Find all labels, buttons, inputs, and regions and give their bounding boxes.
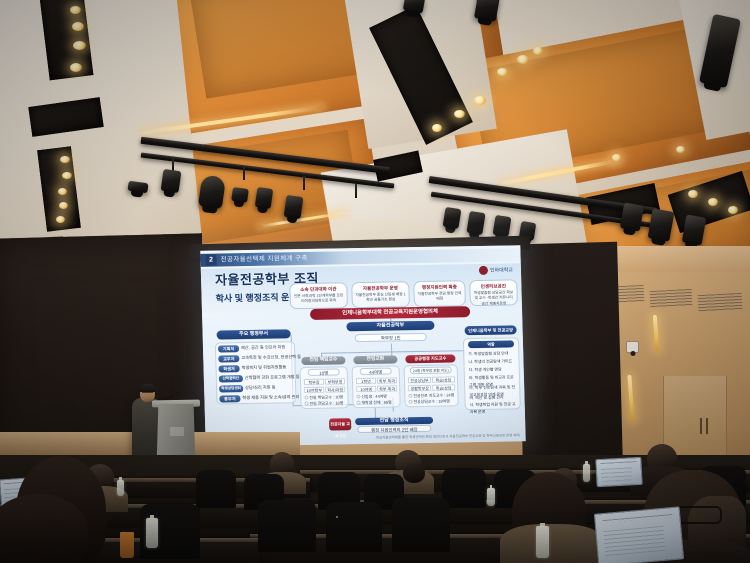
downlight-icon (533, 47, 543, 55)
org-bullet: ◎ 재학생 전체 : 68명 (357, 400, 392, 407)
stage-spotlight-fixture (255, 187, 274, 209)
downlight-icon (73, 41, 86, 50)
downlight-icon (72, 22, 84, 31)
right-panel-header: 인제니움학부 및 전공교양 (464, 325, 516, 335)
org-cell: 1학년 (356, 378, 376, 384)
stage-spotlight-fixture (443, 207, 462, 229)
info-box-body: 인문·사회과학 1단계학부를 프런티어창의대학으로 학칙 (293, 293, 345, 305)
laptop-screen[interactable] (595, 457, 642, 487)
paper-cup[interactable] (120, 532, 134, 558)
org-cell: 10여명 (356, 386, 376, 392)
dept-text: 학생복지 및 취업지원활동 (241, 364, 286, 371)
right-bullet: 나. 학생의 전공탐색 가이드 (468, 358, 512, 366)
moving-head-light-fixture (198, 174, 226, 209)
water-bottle[interactable] (146, 518, 158, 548)
org-branch-title: 전임교원 (353, 355, 397, 364)
downlight-icon (708, 198, 718, 206)
right-bullet: 가. 학생맞춤형 상담 안내 (468, 350, 508, 358)
projection-screen: 2 전공자율선택제 지원체계 구축 자율전공학부 조직 인하대학교 학사 및 행… (200, 245, 525, 447)
org-cell: 10여학부 (304, 387, 324, 393)
presenter-hair (139, 384, 156, 392)
logo-mark-icon (479, 266, 488, 275)
downlight-icon (70, 63, 82, 72)
truss-hanger (243, 166, 245, 180)
stage-spotlight-fixture (161, 169, 182, 193)
laptop-document-body (600, 467, 632, 482)
bottom-header: 전담 행정조직 (355, 417, 433, 425)
laptop-document-lines (600, 461, 637, 464)
dept-label: 학생상담센터 (219, 385, 243, 392)
laptop-document-body (603, 526, 666, 558)
downlight-icon (70, 6, 81, 14)
air-vent-right-2 (650, 289, 693, 308)
info-box-body: 학생맞춤형 상담공간 확보 및 교수 ·학생간 커뮤니티 공간 재배치운영 (473, 290, 515, 307)
dept-text: 학생 채용 지원 및 소속/급여 관리 (242, 394, 299, 401)
downlight-icon (517, 55, 529, 64)
info-box: 행정지원인력 확충 자율전공학부 전담 행정 인력 배정 (413, 280, 466, 307)
org-cell: 학습/상담 (432, 376, 455, 382)
door-handle[interactable] (700, 418, 702, 434)
stage-spotlight-fixture (231, 187, 249, 203)
attendee-head (403, 463, 425, 483)
left-panel-header: 주요 행정부서 (217, 329, 291, 339)
stage-spotlight-fixture (284, 195, 304, 219)
org-cell: 부학부장 (325, 378, 345, 384)
dept-text: 예산, 공간 등 인프라 지원 (241, 344, 286, 351)
podium-crest-logo (170, 427, 184, 436)
bottom-badge: 전공자율 교육과정 (329, 418, 351, 430)
downlight-icon (497, 68, 508, 76)
laptop-screen[interactable] (594, 506, 684, 563)
org-cell: 전공상담부 (408, 377, 431, 383)
bottom-text: 행정 지원인력의 2인 배정 (357, 425, 431, 433)
downlight-icon (454, 110, 465, 118)
dept-label: 총무처 (219, 395, 240, 402)
presentation-slide: 2 전공자율선택제 지원체계 구축 자율전공학부 조직 인하대학교 학사 및 행… (200, 245, 525, 447)
downlight-icon (59, 202, 68, 209)
downlight-icon (728, 206, 738, 214)
downlight-icon (58, 188, 67, 195)
laptop-screen[interactable] (336, 516, 338, 518)
org-branch-count: 10명 (308, 368, 340, 376)
water-bottle[interactable] (117, 480, 124, 496)
org-branch-title: 전임 책임교수 (301, 356, 345, 365)
org-bullet: ◎ 전공상담교수 : 18여명 (409, 398, 450, 406)
stage-spotlight-fixture (127, 181, 148, 194)
right-bullet: 다. 학생 개인별 면담 (469, 367, 502, 374)
org-cell: 생활학부장 (408, 385, 431, 391)
ceiling (0, 0, 750, 258)
info-box-body: 자율전공학부 전담 행정 인력 배정 (417, 291, 463, 303)
org-cell: 학습/상담 (432, 384, 455, 390)
slide-section-label: 학사 및 행정조직 운영 (215, 290, 297, 304)
truss-hanger (303, 176, 305, 190)
downlight-icon (62, 172, 72, 179)
info-box: 인센티브공간 학생맞춤형 상담공간 확보 및 교수 ·학생간 커뮤니티 공간 재… (469, 279, 518, 306)
laptop-document-lines (602, 514, 673, 523)
dept-label: 산학협력단 (219, 375, 243, 382)
org-cell: 학부·학과 (377, 385, 397, 391)
downlight-icon (60, 156, 70, 163)
water-bottle[interactable] (583, 464, 590, 482)
attendee-shoulders (500, 524, 604, 563)
logo-text: 인하대학교 (490, 266, 513, 273)
audience-chair (392, 498, 450, 552)
presenter-glasses-icon (142, 392, 153, 395)
slide-number-badge: 2 (205, 255, 216, 266)
dept-label: 교무처 (218, 355, 239, 362)
org-branch-count: 44여명 (360, 368, 392, 376)
org-cell: 학사/과정 (325, 386, 345, 392)
audience-chair (258, 500, 316, 552)
door-handle[interactable] (706, 418, 708, 434)
org-root-node: 자율전공학부 (346, 321, 434, 332)
org-cell: 학부·학과 (377, 377, 397, 383)
stage-backdrop-right (517, 242, 623, 467)
dept-text: 상담/심리 지원 등 (245, 385, 276, 392)
truss-hanger (355, 184, 357, 198)
org-branch-count: 24명 (학부장 포함 지도) (410, 366, 452, 374)
water-bottle[interactable] (536, 526, 549, 558)
info-box-body: 자율전공학부 중심 신입생 배정 1학년 공통기초 편성 (355, 292, 407, 304)
dept-label: 기획처 (218, 345, 239, 352)
water-bottle[interactable] (487, 488, 495, 506)
org-branch-title: 공공행정 지도교수 (405, 354, 455, 363)
slide-footer-note: 전공자율선택제를 통한 학생선택권 확대 방안으로서 자율전공학부 전공교육 및… (376, 432, 520, 440)
right-panel-subheader: 역할 (468, 340, 514, 348)
info-box: 자율전공학부 운영 자율전공학부 중심 신입생 배정 1학년 공통기초 편성 (351, 281, 410, 308)
stage-spotlight-fixture (493, 215, 512, 237)
bottom-badge-text: 전공자율 교육과정 (330, 421, 350, 438)
org-cell: 학부장 (304, 379, 324, 385)
dept-text: 교과목정 및 수강신청, 전공선택 등 (241, 354, 301, 361)
right-bullet: 사. 학생취업 지원 및 전공 교과목 운영 (470, 401, 518, 415)
org-bullet: ◎ 전임 전담교수 : 18명 (305, 400, 344, 408)
dept-text: 산학협력 강화 프로그램 개발 등 (245, 374, 300, 381)
downlight-icon (432, 124, 442, 132)
org-root-sub: 학부장 1인 (355, 333, 427, 342)
downlight-icon (56, 216, 65, 223)
downlight-icon (676, 146, 685, 153)
stage-spotlight-fixture (466, 211, 485, 235)
downlight-icon (688, 190, 698, 198)
dept-label: 학생처 (218, 365, 239, 372)
university-logo: 인하대학교 (479, 265, 513, 275)
downlight-icon (474, 96, 486, 105)
audience-chair (196, 470, 236, 508)
info-box: 소속 단과대학 이관 인문·사회과학 1단계학부를 프런티어창의대학으로 학칙 (289, 282, 348, 309)
stage-spotlight-fixture (403, 0, 425, 14)
conference-hall-photo: 2 전공자율선택제 지원체계 구축 자율전공학부 조직 인하대학교 학사 및 행… (0, 0, 750, 563)
slide-eyebrow-text: 전공자율선택제 지원체계 구축 (220, 253, 308, 266)
air-vent-right-3 (698, 293, 743, 312)
microphone-head-icon (172, 391, 177, 396)
wall-speaker-device (626, 341, 639, 353)
connector-line (391, 343, 392, 351)
attendee-glasses-icon (676, 506, 722, 524)
audience-chair (326, 502, 382, 552)
